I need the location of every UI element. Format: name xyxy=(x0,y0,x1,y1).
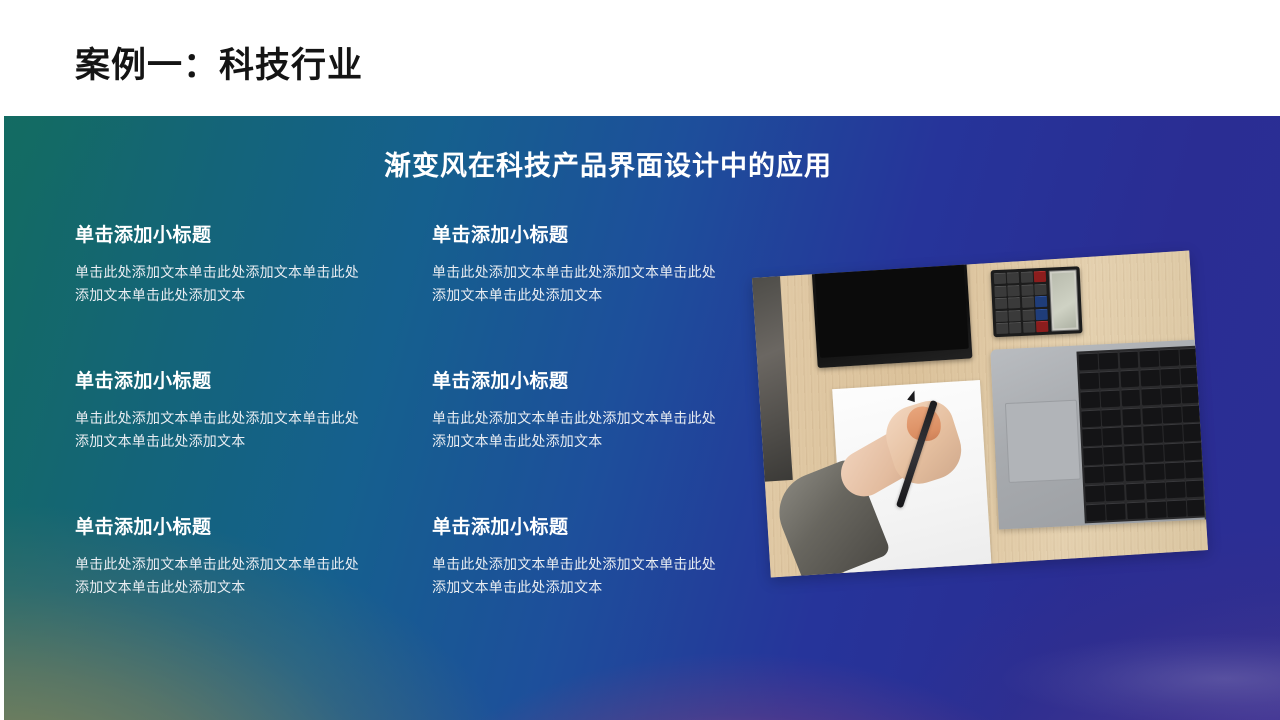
section-heading: 渐变风在科技产品界面设计中的应用 xyxy=(4,144,1246,183)
content-block-grid: 单击添加小标题 单击此处添加文本单击此处添加文本单击此处添加文本单击此处添加文本… xyxy=(75,226,755,664)
content-block: 单击添加小标题 单击此处添加文本单击此处添加文本单击此处添加文本单击此处添加文本 xyxy=(432,372,755,518)
content-block-body: 单击此处添加文本单击此处添加文本单击此处添加文本单击此处添加文本 xyxy=(75,407,365,452)
calculator-screen xyxy=(1049,269,1080,331)
content-block-title: 单击添加小标题 xyxy=(432,372,747,393)
content-block: 单击添加小标题 单击此处添加文本单击此处添加文本单击此处添加文本单击此处添加文本 xyxy=(75,372,432,518)
content-block-title: 单击添加小标题 xyxy=(432,226,747,247)
content-block: 单击添加小标题 单击此处添加文本单击此处添加文本单击此处添加文本单击此处添加文本 xyxy=(432,518,755,664)
calculator-keypad xyxy=(994,271,1049,334)
tablet-device xyxy=(812,259,973,369)
desk-photo xyxy=(752,251,1208,578)
laptop-trackpad xyxy=(1005,400,1081,483)
content-block-body: 单击此处添加文本单击此处添加文本单击此处添加文本单击此处添加文本 xyxy=(432,261,722,306)
laptop-device xyxy=(990,340,1208,530)
page-title: 案例一：科技行业 xyxy=(75,47,363,86)
gradient-background: 渐变风在科技产品界面设计中的应用 单击添加小标题 单击此处添加文本单击此处添加文… xyxy=(4,116,1280,720)
header-band: 案例一：科技行业 xyxy=(0,0,1280,116)
slide-canvas: 渐变风在科技产品界面设计中的应用 单击添加小标题 单击此处添加文本单击此处添加文… xyxy=(0,0,1280,720)
content-block-body: 单击此处添加文本单击此处添加文本单击此处添加文本单击此处添加文本 xyxy=(432,553,722,598)
content-block: 单击添加小标题 单击此处添加文本单击此处添加文本单击此处添加文本单击此处添加文本 xyxy=(75,226,432,372)
content-block-title: 单击添加小标题 xyxy=(75,226,424,247)
content-block-title: 单击添加小标题 xyxy=(75,518,424,539)
content-block-body: 单击此处添加文本单击此处添加文本单击此处添加文本单击此处添加文本 xyxy=(432,407,722,452)
calculator-device xyxy=(991,266,1083,337)
content-block-body: 单击此处添加文本单击此处添加文本单击此处添加文本单击此处添加文本 xyxy=(75,261,365,306)
desk-photo-content xyxy=(752,251,1208,578)
laptop-keyboard xyxy=(1076,346,1208,524)
content-block-title: 单击添加小标题 xyxy=(75,372,424,393)
content-block: 单击添加小标题 单击此处添加文本单击此处添加文本单击此处添加文本单击此处添加文本 xyxy=(432,226,755,372)
content-block-body: 单击此处添加文本单击此处添加文本单击此处添加文本单击此处添加文本 xyxy=(75,553,365,598)
content-block: 单击添加小标题 单击此处添加文本单击此处添加文本单击此处添加文本单击此处添加文本 xyxy=(75,518,432,664)
content-block-title: 单击添加小标题 xyxy=(432,518,747,539)
